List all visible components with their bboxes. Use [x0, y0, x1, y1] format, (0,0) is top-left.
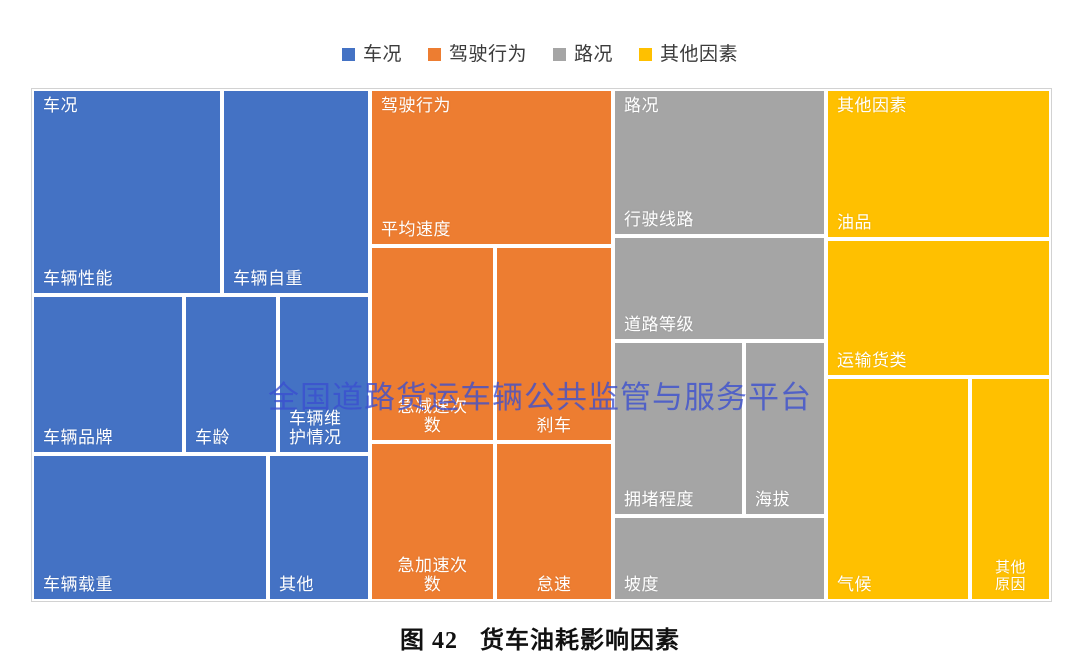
treemap-tile-label: 刹车 [500, 416, 608, 435]
treemap-tile[interactable]: 车辆自重 [222, 89, 370, 295]
treemap-tile-label: 车辆维 护情况 [289, 409, 363, 447]
treemap-tile-label: 行驶线路 [624, 210, 819, 229]
caption-title: 货车油耗影响因素 [480, 628, 680, 654]
treemap-tile-label: 气候 [837, 575, 963, 594]
treemap-tile[interactable]: 车辆维 护情况 [278, 295, 370, 454]
legend-label: 车况 [363, 45, 402, 64]
caption-number: 图 42 [400, 628, 458, 654]
treemap-group-title: 车况 [43, 97, 78, 116]
treemap-tile[interactable]: 怠速 [495, 442, 613, 601]
treemap-tile-label: 运输货类 [837, 351, 1044, 370]
legend-swatch-icon [342, 48, 355, 61]
treemap-tile-label: 道路等级 [624, 315, 819, 334]
legend-item[interactable]: 车况 [342, 45, 402, 64]
treemap-tile[interactable]: 海拔 [744, 341, 826, 516]
treemap-tile-label: 车龄 [195, 428, 271, 447]
treemap-tile-label: 其他 [279, 575, 363, 594]
treemap-tile[interactable]: 其他 原因 [970, 377, 1051, 601]
treemap-tile-label: 车辆载重 [43, 575, 261, 594]
legend-label: 其他因素 [660, 45, 738, 64]
treemap-tile[interactable]: 运输货类 [826, 239, 1051, 377]
treemap-tile-label: 油品 [837, 213, 1044, 232]
treemap-tile[interactable]: 车辆品牌 [32, 295, 184, 454]
treemap-tile[interactable]: 行驶线路路况 [613, 89, 826, 236]
legend-label: 驾驶行为 [449, 45, 527, 64]
figure-caption: 图 42货车油耗影响因素 [0, 620, 1080, 655]
legend-swatch-icon [428, 48, 441, 61]
treemap-tile[interactable]: 刹车 [495, 246, 613, 442]
treemap-tile[interactable]: 气候 [826, 377, 970, 601]
treemap-plot-area: 车辆性能车况车辆自重车辆品牌车龄车辆维 护情况车辆载重其他平均速度驾驶行为急减速… [31, 88, 1052, 602]
treemap-tile[interactable]: 其他 [268, 454, 370, 601]
legend-item[interactable]: 驾驶行为 [428, 45, 527, 64]
treemap-tile-label: 车辆自重 [233, 269, 363, 288]
treemap-tile-label: 怠速 [500, 575, 608, 594]
legend-item[interactable]: 其他因素 [639, 45, 738, 64]
legend-swatch-icon [639, 48, 652, 61]
treemap-group-title: 路况 [624, 97, 659, 116]
treemap-tile-label: 车辆品牌 [43, 428, 177, 447]
figure-container: 车况驾驶行为路况其他因素 车辆性能车况车辆自重车辆品牌车龄车辆维 护情况车辆载重… [0, 0, 1080, 666]
treemap-tile-label: 平均速度 [381, 220, 606, 239]
treemap-tile[interactable]: 油品其他因素 [826, 89, 1051, 239]
treemap-tile[interactable]: 车辆性能车况 [32, 89, 222, 295]
legend-swatch-icon [553, 48, 566, 61]
treemap-tile[interactable]: 平均速度驾驶行为 [370, 89, 613, 246]
treemap-tile[interactable]: 急减速次 数 [370, 246, 495, 442]
treemap-tile[interactable]: 坡度 [613, 516, 826, 601]
treemap-tile[interactable]: 车辆载重 [32, 454, 268, 601]
treemap-group-title: 其他因素 [837, 97, 907, 116]
treemap-tile[interactable]: 道路等级 [613, 236, 826, 341]
treemap-tile-label: 急减速次 数 [375, 397, 490, 435]
treemap-tile-label: 急加速次 数 [375, 556, 490, 594]
treemap-tile[interactable]: 车龄 [184, 295, 278, 454]
treemap-tile-label: 海拔 [755, 490, 819, 509]
treemap-tile[interactable]: 拥堵程度 [613, 341, 744, 516]
treemap-tile-label: 坡度 [624, 575, 819, 594]
treemap-tile-label: 拥堵程度 [624, 490, 737, 509]
legend-label: 路况 [574, 45, 613, 64]
treemap-tile[interactable]: 急加速次 数 [370, 442, 495, 601]
treemap-tile-label: 车辆性能 [43, 269, 215, 288]
treemap-group-title: 驾驶行为 [381, 97, 451, 116]
legend-item[interactable]: 路况 [553, 45, 613, 64]
chart-legend: 车况驾驶行为路况其他因素 [0, 38, 1080, 70]
treemap-tile-label: 其他 原因 [975, 560, 1046, 594]
